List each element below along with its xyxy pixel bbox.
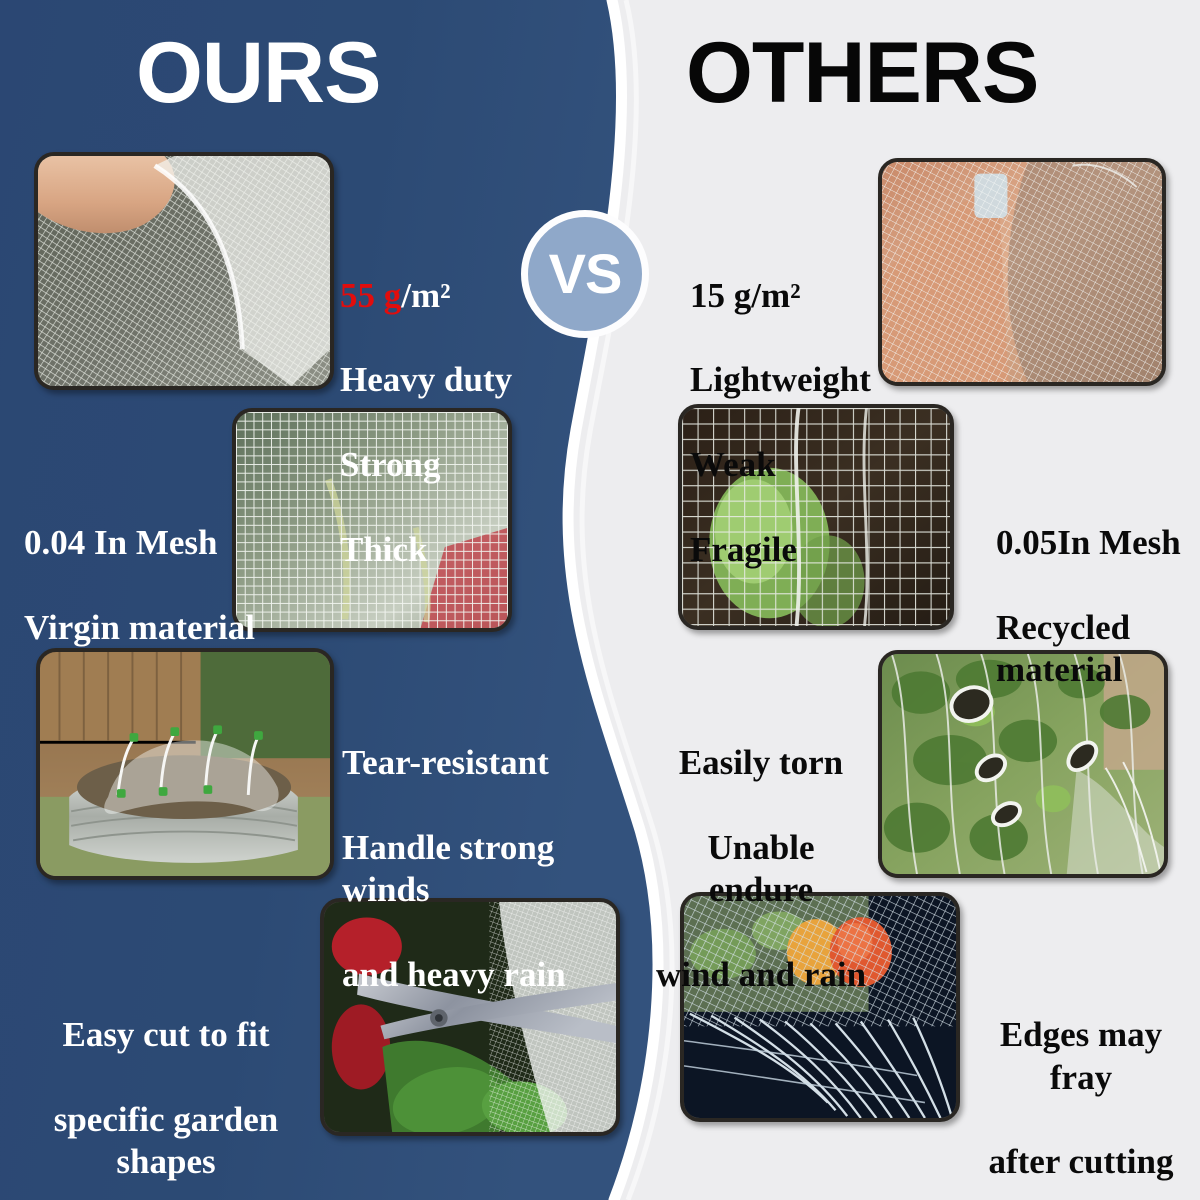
caption-ours-durability-line-2: Handle strong winds: [342, 827, 642, 912]
weight-others-value: 15 g: [690, 276, 751, 315]
caption-others-weight-line-3: Fragile: [690, 529, 880, 571]
caption-ours-durability-line-1: Tear-resistant: [342, 742, 642, 784]
caption-others-cutting: Edges may fray after cutting: [966, 972, 1196, 1200]
weight-ours-value: 55 g: [340, 276, 401, 315]
caption-others-mesh-line-1: 0.05In Mesh: [996, 522, 1196, 564]
caption-others-weight-line-2: Weak: [690, 444, 880, 486]
caption-ours-cutting: Easy cut to fit specific garden shapes: [16, 972, 316, 1200]
page-title-others: OTHERS: [686, 30, 1038, 116]
comparison-infographic: OURS OTHERS VS: [0, 0, 1200, 1200]
caption-ours-weight-line-2: Strong: [340, 444, 525, 486]
caption-ours-durability-line-3: and heavy rain: [342, 954, 642, 996]
vs-badge-label: VS: [549, 246, 622, 302]
weight-ours-line: 55 g/m²: [340, 232, 525, 317]
caption-others-durability-line-3: wind and rain: [652, 954, 870, 996]
caption-ours-durability: Tear-resistant Handle strong winds and h…: [342, 700, 642, 1039]
caption-others-cutting-line-2: after cutting: [966, 1141, 1196, 1183]
caption-ours-weight: 55 g/m² Heavy duty Strong Thick: [340, 190, 525, 613]
caption-others-cutting-line-1: Edges may fray: [966, 1014, 1196, 1099]
caption-others-mesh-line-2: Recycled material: [996, 607, 1196, 692]
caption-ours-weight-line-3: Thick: [340, 529, 525, 571]
page-title-ours: OURS: [136, 30, 380, 116]
weight-ours-unit: /m²: [401, 276, 450, 315]
photo-ours-weight: [34, 152, 334, 390]
caption-ours-cutting-line-2: specific garden shapes: [16, 1099, 316, 1184]
caption-others-mesh: 0.05In Mesh Recycled material: [996, 480, 1196, 734]
vs-badge: VS: [521, 210, 649, 338]
caption-ours-mesh-line-2: Virgin material: [24, 607, 264, 649]
caption-ours-weight-line-1: Heavy duty: [340, 359, 525, 401]
caption-ours-mesh: 0.04 In Mesh Virgin material: [24, 480, 264, 692]
caption-others-weight-line-1: Lightweight: [690, 359, 880, 401]
photo-others-weight: [878, 158, 1166, 386]
caption-ours-mesh-line-1: 0.04 In Mesh: [24, 522, 264, 564]
caption-others-durability-line-2: Unable endure: [652, 827, 870, 912]
weight-others-line: 15 g/m²: [690, 232, 880, 317]
weight-others-unit: /m²: [751, 276, 800, 315]
caption-ours-cutting-line-1: Easy cut to fit: [16, 1014, 316, 1056]
caption-others-weight: 15 g/m² Lightweight Weak Fragile: [690, 190, 880, 613]
caption-others-durability-line-1: Easily torn: [652, 742, 870, 784]
caption-others-durability: Easily torn Unable endure wind and rain: [652, 700, 870, 1039]
